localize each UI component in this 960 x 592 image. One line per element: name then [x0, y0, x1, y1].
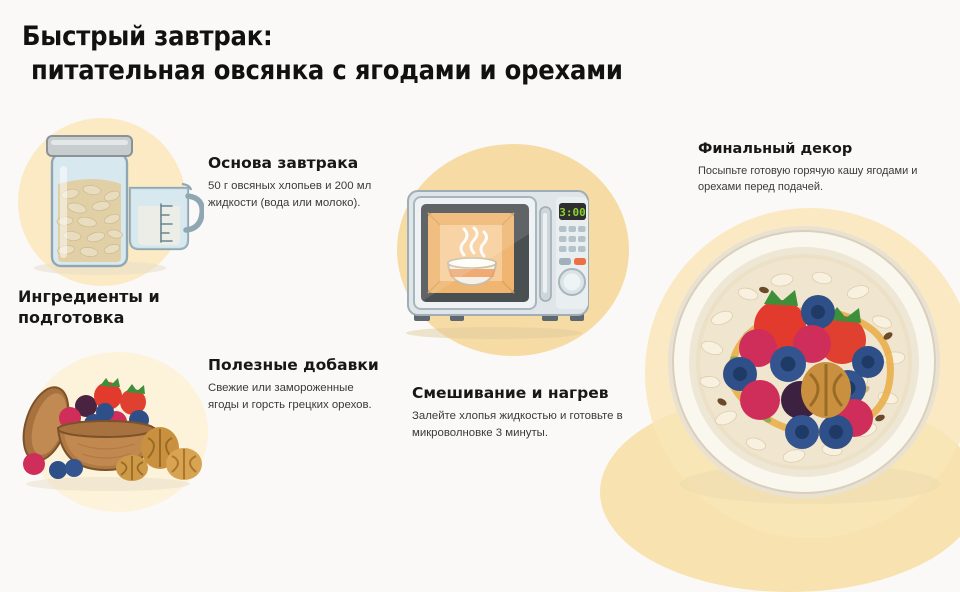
text-block-mixing: Смешивание и нагрев Залейте хлопья жидко…: [412, 384, 627, 441]
microwave-start-button[interactable]: [574, 258, 586, 265]
page-title-line-2: питательная овсянка с ягодами и орехами: [22, 54, 623, 88]
heading-base: Основа завтрака: [208, 154, 380, 173]
heading-mixing: Смешивание и нагрев: [412, 384, 627, 403]
body-addons: Свежие или замороженные ягоды и горсть г…: [208, 380, 386, 413]
heading-section-ingredients: Ингредиенты и подготовка: [18, 286, 193, 328]
wooden-bowl-berries-walnuts-illustration: [8, 352, 204, 494]
page-title: Быстрый завтрак: питательная овсянка с я…: [22, 20, 623, 88]
oatmeal-bowl-illustration: [652, 222, 960, 512]
page-title-line-1: Быстрый завтрак:: [22, 21, 273, 52]
microwave-illustration: 3:00: [390, 163, 602, 341]
text-block-decor: Финальный декор Посыпьте готовую горячую…: [698, 140, 946, 195]
body-mixing: Залейте хлопья жидкостью и готовьте в ми…: [412, 408, 627, 441]
heading-addons: Полезные добавки: [208, 356, 386, 375]
microwave-stop-button[interactable]: [559, 258, 571, 265]
heading-decor: Финальный декор: [698, 140, 946, 159]
text-block-addons: Полезные добавки Свежие или замороженные…: [208, 356, 386, 413]
text-block-base: Основа завтрака 50 г овсяных хлопьев и 2…: [208, 154, 380, 211]
oat-jar-and-measuring-cup-illustration: [22, 126, 204, 278]
body-base: 50 г овсяных хлопьев и 200 мл жидкости (…: [208, 178, 380, 211]
microwave-timer-display: 3:00: [559, 206, 586, 219]
infographic-canvas: Быстрый завтрак: питательная овсянка с я…: [0, 0, 960, 540]
text-block-section-ingredients: Ингредиенты и подготовка: [18, 286, 193, 333]
body-decor: Посыпьте готовую горячую кашу ягодами и …: [698, 164, 946, 195]
